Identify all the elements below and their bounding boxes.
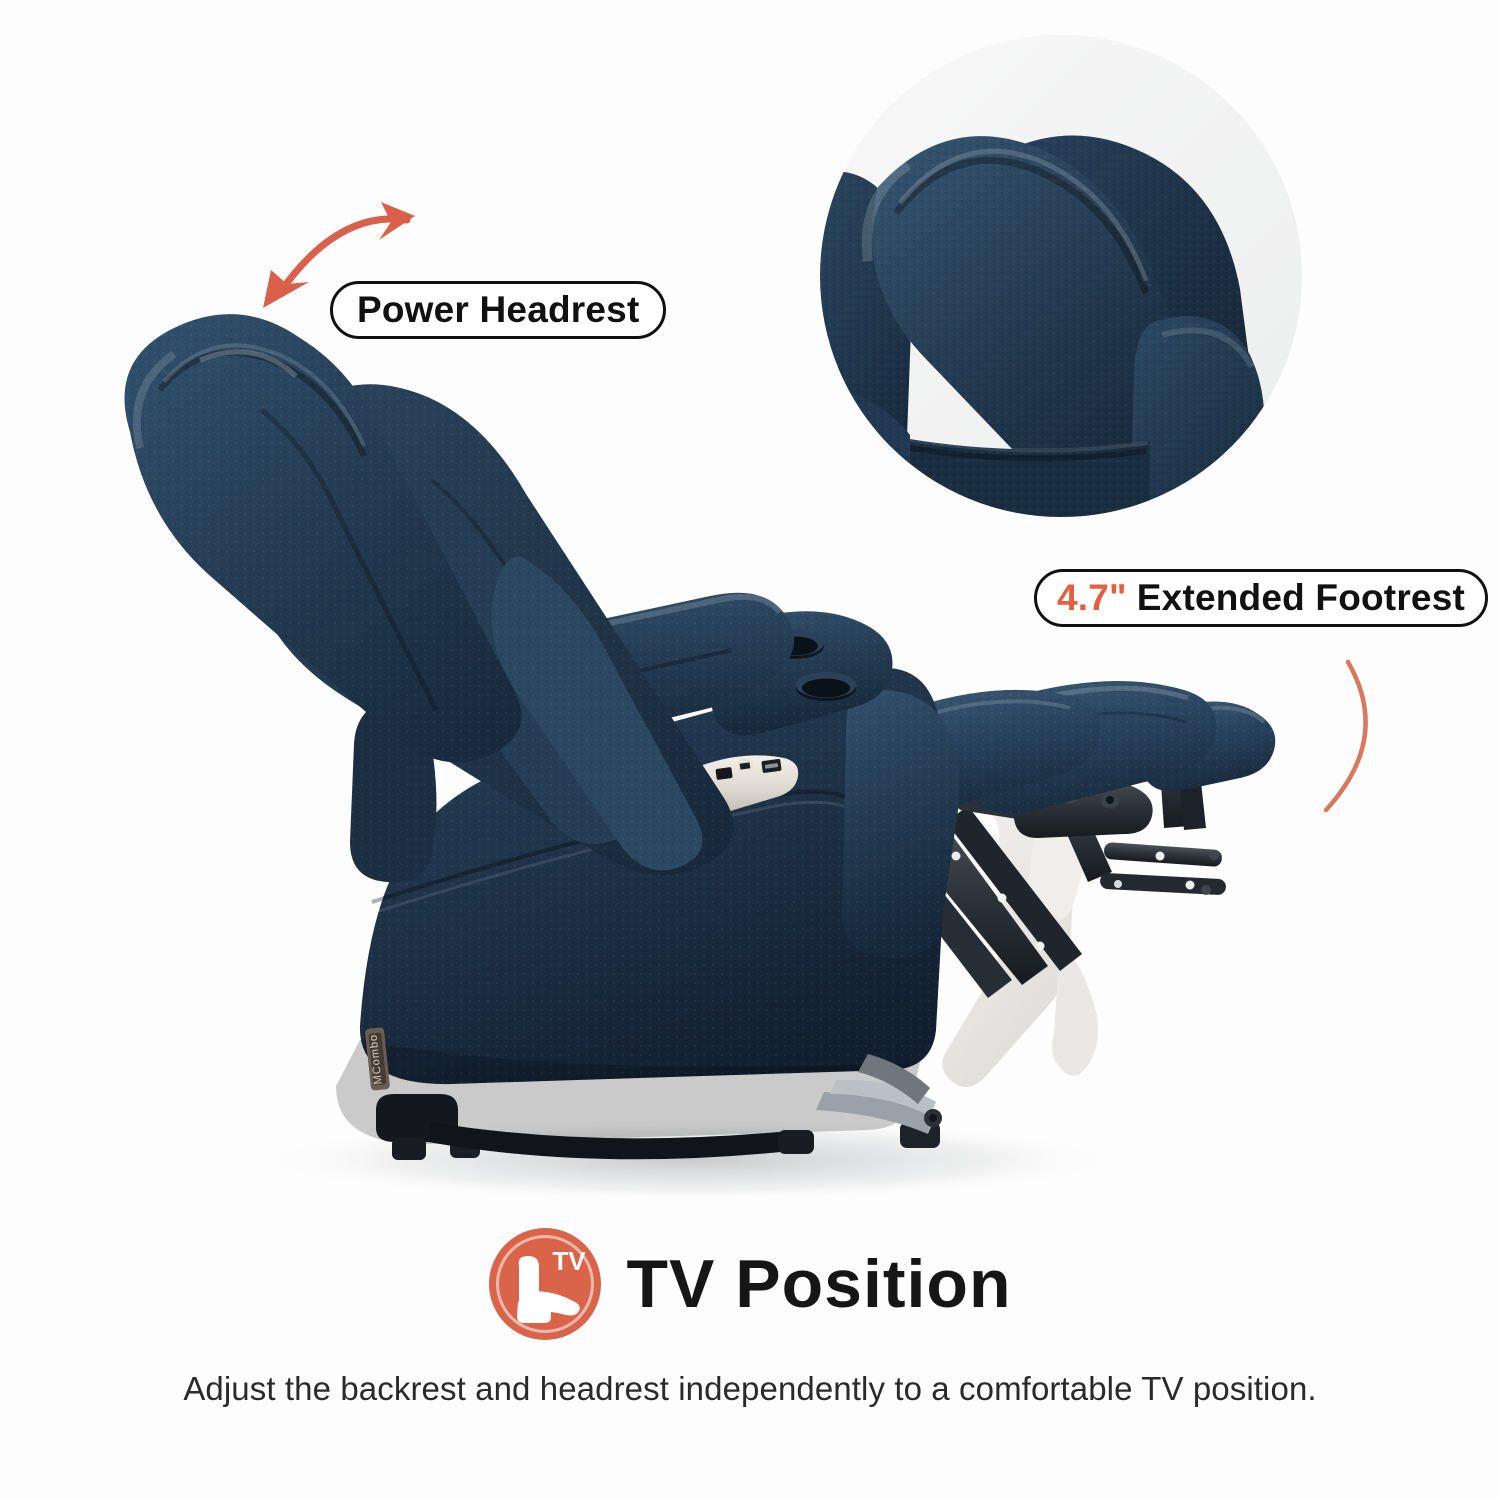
seat-cushion	[842, 689, 959, 958]
tv-recliner-icon: TV	[489, 1228, 601, 1340]
tv-recliner-glyph: TV	[489, 1228, 601, 1340]
foot-front-left	[392, 1138, 426, 1160]
panel-button-recline	[715, 767, 732, 780]
headrest-closeup-inset	[820, 35, 1302, 517]
callout-label-extended-footrest[interactable]: 4.7" Extended Footrest	[1034, 569, 1488, 627]
foot-rear-left	[778, 1130, 814, 1154]
tv-icon-badge-text: TV	[552, 1246, 586, 1276]
callout-label-text: Power Headrest	[357, 289, 639, 331]
page-title: TV Position	[627, 1250, 1012, 1318]
footer-title-row: TV TV Position	[0, 1228, 1500, 1340]
footer-subtitle: Adjust the backrest and headrest indepen…	[0, 1370, 1500, 1408]
callout-label-text: Extended Footrest	[1137, 577, 1465, 619]
callout-accent-measurement: 4.7"	[1057, 577, 1127, 619]
extended-footrest-arc	[1320, 640, 1440, 830]
footer-block: TV TV Position Adjust the backrest and h…	[0, 1228, 1500, 1408]
infographic-canvas: MCombo	[0, 0, 1500, 1500]
callout-label-power-headrest[interactable]: Power Headrest	[330, 281, 666, 339]
